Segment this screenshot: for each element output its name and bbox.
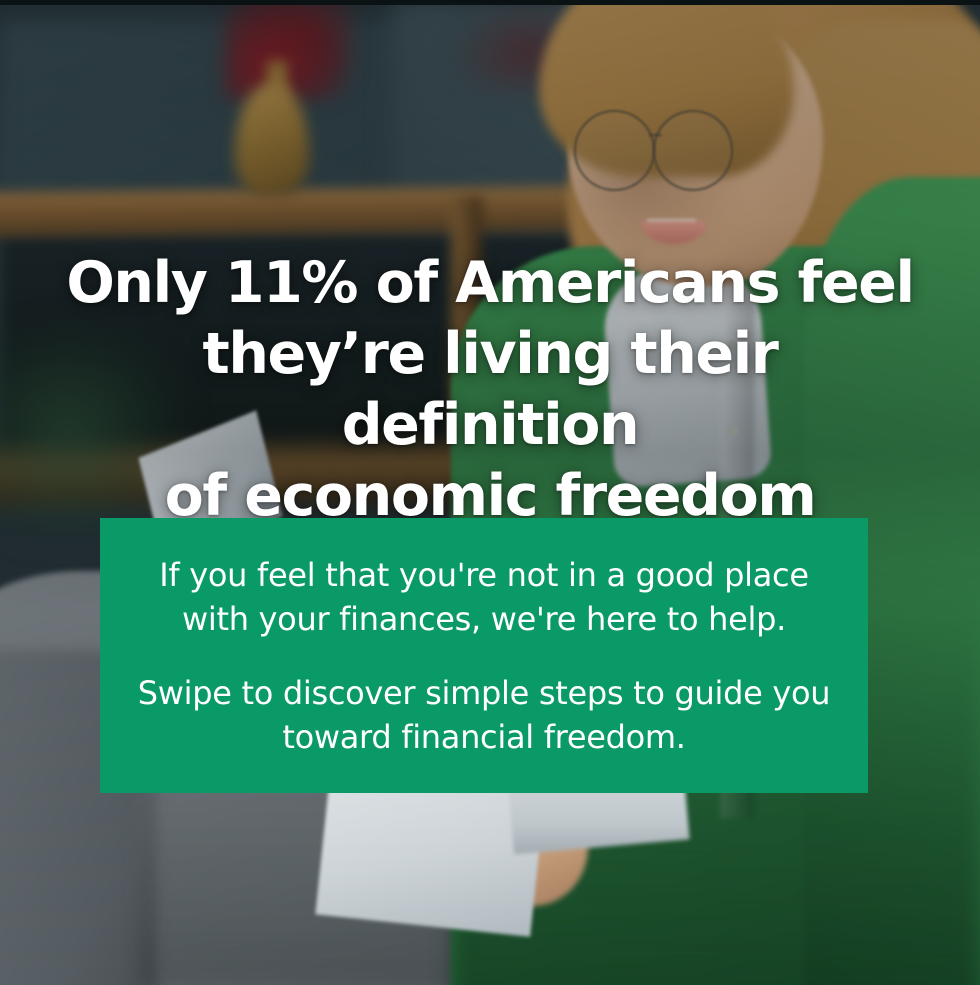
message-panel: If you feel that you're not in a good pl… xyxy=(100,518,868,793)
panel-paragraph-cta: Swipe to discover simple steps to guide … xyxy=(138,671,831,759)
panel-paragraph-primary: If you feel that you're not in a good pl… xyxy=(159,553,808,641)
headline: Only 11% of Americans feel they’re livin… xyxy=(60,248,920,532)
top-letterbox-bar xyxy=(0,0,980,5)
promo-card: Only 11% of Americans feel they’re livin… xyxy=(0,0,980,985)
